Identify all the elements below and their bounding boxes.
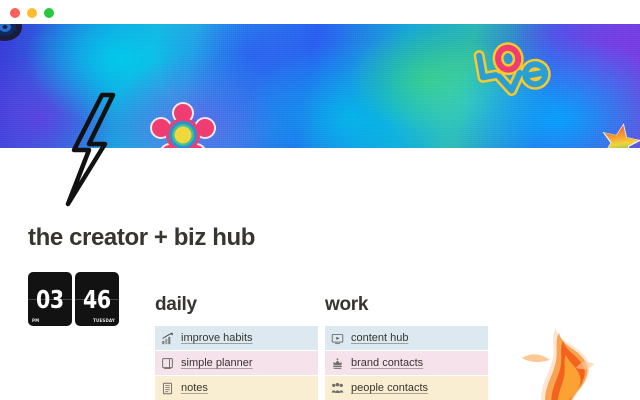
flip-clock: 03 PM 46 TUESDAY bbox=[28, 272, 119, 326]
column-daily: daily improve habits simple planner bbox=[155, 294, 318, 400]
list-item[interactable]: content hub bbox=[325, 326, 488, 350]
flip-hours-value: 03 bbox=[36, 287, 64, 312]
video-monitor-icon bbox=[331, 332, 344, 345]
traffic-lights bbox=[10, 8, 54, 18]
maximize-button[interactable] bbox=[44, 8, 54, 18]
list-item-label: simple planner bbox=[181, 357, 253, 369]
list-item[interactable]: people contacts bbox=[325, 376, 488, 400]
close-button[interactable] bbox=[10, 8, 20, 18]
crown-brand-icon bbox=[331, 357, 344, 370]
notes-document-icon bbox=[161, 382, 174, 395]
flip-clock-minutes: 46 TUESDAY bbox=[75, 272, 119, 326]
list-item[interactable]: brand contacts bbox=[325, 351, 488, 375]
lightning-bolt-sticker bbox=[58, 92, 118, 207]
bar-chart-icon bbox=[161, 332, 174, 345]
flip-clock-hours: 03 PM bbox=[28, 272, 72, 326]
flame-illustration bbox=[508, 318, 628, 400]
list-item-label: improve habits bbox=[181, 332, 253, 344]
list-item-label: content hub bbox=[351, 332, 409, 344]
flip-meridiem-label: PM bbox=[32, 318, 39, 323]
people-group-icon bbox=[331, 382, 344, 395]
column-heading-work: work bbox=[325, 294, 488, 316]
love-sticker bbox=[470, 38, 556, 100]
page-title: the creator + biz hub bbox=[28, 224, 255, 252]
window-titlebar bbox=[0, 0, 640, 24]
list-item-label: notes bbox=[181, 382, 208, 394]
planner-book-icon bbox=[161, 357, 174, 370]
cover-banner[interactable] bbox=[0, 24, 640, 148]
list-item-label: brand contacts bbox=[351, 357, 423, 369]
list-item[interactable]: simple planner bbox=[155, 351, 318, 375]
column-work: work content hub brand contacts bbox=[325, 294, 488, 400]
flip-minutes-value: 46 bbox=[83, 287, 111, 312]
list-item[interactable]: notes bbox=[155, 376, 318, 400]
list-item-label: people contacts bbox=[351, 382, 428, 394]
flip-weekday-label: TUESDAY bbox=[93, 318, 115, 323]
column-heading-daily: daily bbox=[155, 294, 318, 316]
list-item[interactable]: improve habits bbox=[155, 326, 318, 350]
minimize-button[interactable] bbox=[27, 8, 37, 18]
app-window: the creator + biz hub 03 PM 46 TUESDAY d… bbox=[0, 0, 640, 400]
